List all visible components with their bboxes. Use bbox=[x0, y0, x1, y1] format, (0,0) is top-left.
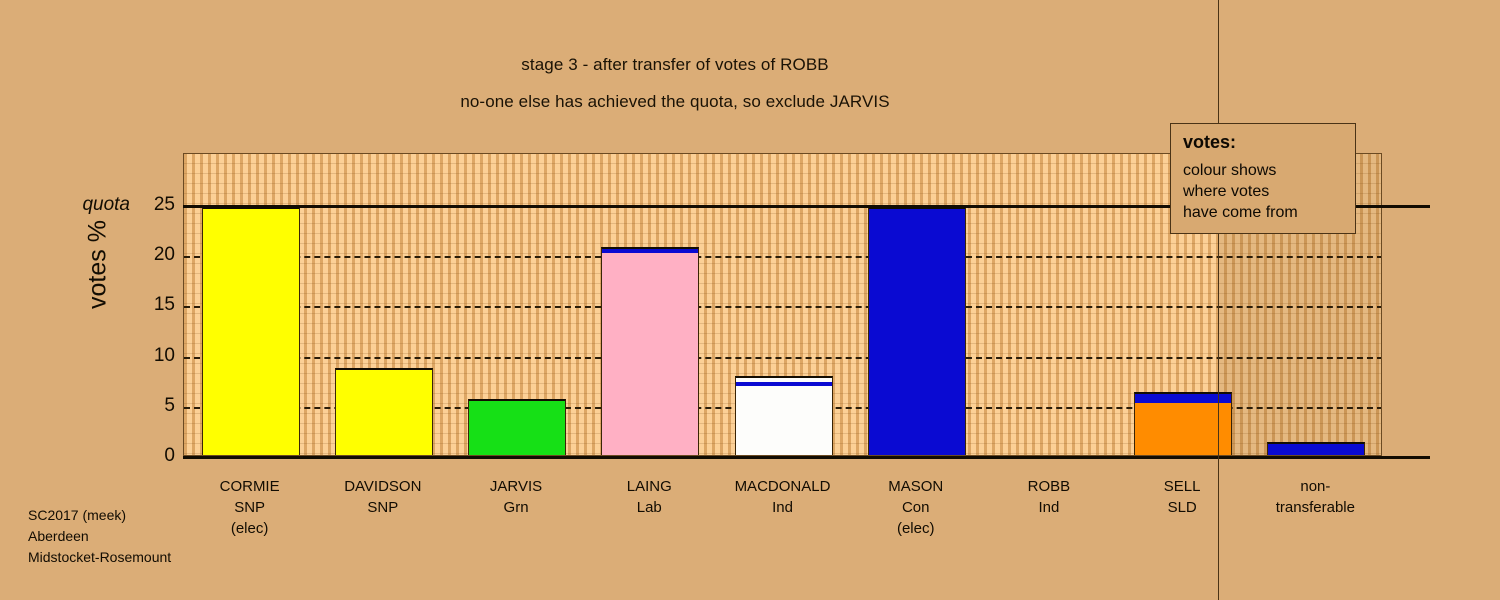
legend-line-3: have come from bbox=[1183, 202, 1345, 223]
x-axis-baseline bbox=[183, 456, 1430, 459]
chart-title: stage 3 - after transfer of votes of ROB… bbox=[0, 55, 1350, 75]
legend-line-1: colour shows bbox=[1183, 160, 1345, 181]
y-axis-tick-15: 15 bbox=[115, 295, 175, 314]
footnote-line-2: Aberdeen bbox=[28, 526, 171, 547]
bar-segment-Lab bbox=[601, 253, 699, 455]
bar[interactable] bbox=[735, 153, 833, 455]
footnote-line-3: Midstocket-Rosemount bbox=[28, 547, 171, 568]
x-axis-label-non: non-transferable bbox=[1225, 476, 1405, 518]
bar-segment-Ind bbox=[735, 376, 833, 383]
x-label-status: (elec) bbox=[160, 518, 340, 539]
bar[interactable] bbox=[1001, 153, 1099, 455]
bar-segment-transfer bbox=[1267, 442, 1365, 455]
chart-subtitle: no-one else has achieved the quota, so e… bbox=[0, 92, 1350, 112]
y-axis-tick-5: 5 bbox=[115, 396, 175, 415]
source-footnote: SC2017 (meek) Aberdeen Midstocket-Rosemo… bbox=[28, 505, 171, 568]
y-axis-tick-20: 20 bbox=[115, 245, 175, 264]
y-axis-tick-10: 10 bbox=[115, 346, 175, 365]
y-axis-title: votes % bbox=[84, 155, 113, 375]
bar-segment-transfer bbox=[601, 247, 699, 253]
x-label-name: non- bbox=[1225, 476, 1405, 497]
chart-canvas: stage 3 - after transfer of votes of ROB… bbox=[0, 0, 1500, 600]
bar-segment-SNP bbox=[335, 368, 433, 455]
legend-box: votes: colour shows where votes have com… bbox=[1170, 123, 1356, 234]
footnote-line-1: SC2017 (meek) bbox=[28, 505, 171, 526]
bar-segment-Grn bbox=[468, 399, 566, 455]
legend-line-2: where votes bbox=[1183, 181, 1345, 202]
y-axis-tick-0: 0 bbox=[115, 446, 175, 465]
bar-segment-SNP bbox=[202, 207, 300, 455]
bar[interactable] bbox=[601, 153, 699, 455]
bar-segment-transfer bbox=[735, 382, 833, 386]
bar[interactable] bbox=[468, 153, 566, 455]
bar-segment-Ind bbox=[735, 386, 833, 455]
bar[interactable] bbox=[202, 153, 300, 455]
bar[interactable] bbox=[868, 153, 966, 455]
x-label-party: transferable bbox=[1225, 497, 1405, 518]
legend-title: votes: bbox=[1183, 132, 1345, 153]
x-label-status: (elec) bbox=[826, 518, 1006, 539]
bar-segment-Con bbox=[868, 207, 966, 455]
bar[interactable] bbox=[335, 153, 433, 455]
